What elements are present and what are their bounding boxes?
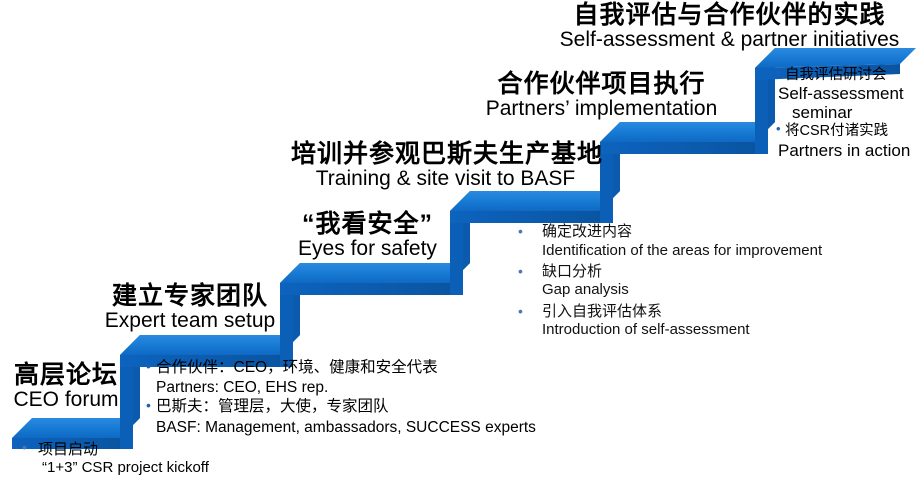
step-5-front-face	[600, 142, 755, 154]
step-label-cn: 高层论坛	[6, 362, 126, 389]
kickoff-bullet-list: •项目启动 “1+3” CSR project kickoff	[18, 440, 318, 477]
step-label-ceo-forum: 高层论坛 CEO forum	[6, 362, 126, 412]
step-label-en: Self-assessment & partner initiatives	[543, 29, 916, 52]
step-label-cn: “我看安全”	[285, 211, 450, 238]
bullet-dot-icon: •	[146, 357, 151, 375]
list-item: •巴斯夫：管理层，大使，专家团队 BASF: Management, ambas…	[146, 397, 566, 436]
list-item: •确定改进内容 Identification of the areas for …	[506, 222, 866, 260]
step-label-partners-implementation: 合作伙伴项目执行 Partners’ implementation	[448, 71, 755, 121]
ceo-forum-bullet-list: •合作伙伴：CEO，环境、健康和安全代表 Partners: CEO, EHS …	[146, 358, 566, 437]
bullet-line-cn: •合作伙伴：CEO，环境、健康和安全代表	[146, 358, 566, 378]
eyes-for-safety-bullet-list: •确定改进内容 Identification of the areas for …	[506, 222, 866, 341]
bullet-line-cn: •自我评估研讨会	[776, 66, 916, 84]
bullet-line-cn: •确定改进内容	[506, 222, 866, 242]
list-item: •合作伙伴：CEO，环境、健康和安全代表 Partners: CEO, EHS …	[146, 358, 566, 397]
bullet-line-en: Partners: CEO, EHS rep.	[146, 378, 566, 397]
bullet-dot-icon: •	[518, 222, 523, 240]
list-item: •缺口分析 Gap analysis	[506, 262, 866, 300]
step-label-cn: 建立专家团队	[99, 283, 281, 310]
step-label-en: Training & site visit to BASF	[291, 168, 600, 191]
step-label-cn: 培训并参观巴斯夫生产基地	[291, 141, 600, 168]
bullet-line-cn: •引入自我评估体系	[506, 302, 866, 322]
step-3-riser-front	[450, 211, 463, 295]
bullet-line-en: Self-assessment	[776, 84, 916, 103]
step-3-front-face	[280, 283, 450, 295]
step-5-riser-front	[755, 68, 768, 154]
step-label-expert-team-setup: 建立专家团队 Expert team setup	[99, 283, 281, 333]
list-item: •将CSR付诸实践 Partners in action	[776, 122, 916, 159]
bullet-dot-icon: •	[518, 302, 523, 320]
bullet-line-cn: •项目启动	[18, 440, 318, 459]
step-label-en: CEO forum	[6, 389, 126, 412]
step-label-cn: 自我评估与合作伙伴的实践	[543, 2, 916, 29]
bullet-line-en: Partners in action	[776, 141, 916, 160]
step-label-en: Partners’ implementation	[448, 98, 755, 121]
self-assessment-bullet-list: •自我评估研讨会 Self-assessment seminar •将CSR付诸…	[776, 66, 916, 160]
bullet-dot-icon: •	[518, 262, 523, 280]
step-label-eyes-for-safety: “我看安全” Eyes for safety	[285, 211, 450, 261]
step-2-top-face	[120, 335, 300, 355]
bullet-line-cn: •将CSR付诸实践	[776, 122, 916, 140]
step-label-en: Expert team setup	[99, 310, 281, 333]
bullet-line-cn: •巴斯夫：管理层，大使，专家团队	[146, 397, 566, 417]
bullet-line-en: “1+3” CSR project kickoff	[18, 459, 318, 477]
step-3-top-face	[280, 263, 470, 283]
step-5-top-face	[600, 122, 775, 142]
bullet-line-cn: •缺口分析	[506, 262, 866, 282]
step-label-self-assessment-partner-initiatives: 自我评估与合作伙伴的实践 Self-assessment & partner i…	[543, 2, 916, 52]
bullet-dot-icon: •	[146, 396, 151, 414]
step-4-top-face	[450, 191, 620, 211]
bullet-dot-icon: •	[776, 121, 781, 137]
bullet-line-en: Gap analysis	[506, 281, 866, 299]
bullet-dot-icon: •	[776, 65, 781, 81]
step-label-cn: 合作伙伴项目执行	[448, 71, 755, 98]
list-item: •自我评估研讨会 Self-assessment seminar	[776, 66, 916, 122]
step-label-en: Eyes for safety	[285, 238, 450, 261]
bullet-line-en: BASF: Management, ambassadors, SUCCESS e…	[146, 418, 566, 437]
list-item: •项目启动 “1+3” CSR project kickoff	[18, 440, 318, 477]
bullet-line-en-cont: seminar	[776, 103, 916, 122]
list-item: •引入自我评估体系 Introduction of self-assessmen…	[506, 302, 866, 340]
bullet-dot-icon: •	[22, 439, 27, 457]
diagram-canvas: 高层论坛 CEO forum 建立专家团队 Expert team setup …	[0, 0, 916, 482]
bullet-line-en: Identification of the areas for improvem…	[506, 242, 866, 260]
step-2-riser-front	[280, 283, 293, 367]
step-label-training-site-visit: 培训并参观巴斯夫生产基地 Training & site visit to BA…	[291, 141, 600, 191]
bullet-line-en: Introduction of self-assessment	[506, 321, 866, 339]
